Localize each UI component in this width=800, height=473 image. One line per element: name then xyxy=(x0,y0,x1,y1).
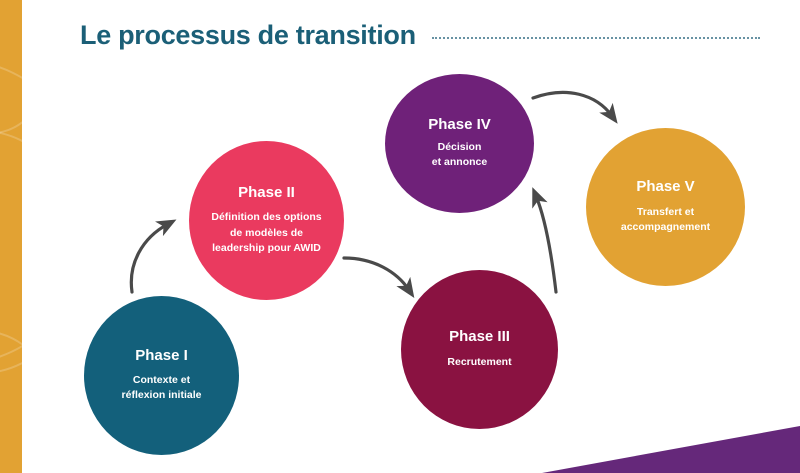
phase-circle-4[interactable]: Phase IV Décision et annonce xyxy=(385,74,534,213)
decorative-swirl xyxy=(0,60,22,364)
phase-2-subtitle: Définition des options de modèles de lea… xyxy=(211,210,321,256)
corner-wedge xyxy=(542,418,800,473)
phase-4-title: Phase IV xyxy=(428,117,491,134)
phase-circle-3[interactable]: Phase III Recrutement xyxy=(401,270,558,429)
arrow-phase3-to-phase4 xyxy=(536,196,556,292)
arrow-phase2-to-phase3 xyxy=(344,258,409,290)
phase-circle-1[interactable]: Phase I Contexte et réflexion initiale xyxy=(84,296,239,455)
phase-3-title: Phase III xyxy=(449,329,510,346)
title-dotted-rule xyxy=(432,37,760,39)
slide-canvas: Le processus de transition Phase I Conte… xyxy=(0,0,800,473)
page-title: Le processus de transition xyxy=(80,20,416,51)
phase-2-title: Phase II xyxy=(238,185,295,202)
phase-5-subtitle: Transfert et accompagnement xyxy=(621,205,710,235)
phase-1-title: Phase I xyxy=(135,348,188,365)
left-accent-bar xyxy=(0,0,22,473)
arrow-phase1-to-phase2 xyxy=(131,224,168,292)
title-row: Le processus de transition xyxy=(80,12,760,58)
phase-circle-5[interactable]: Phase V Transfert et accompagnement xyxy=(586,128,745,286)
phase-circle-2[interactable]: Phase II Définition des options de modèl… xyxy=(189,141,344,300)
arrow-phase4-to-phase5 xyxy=(533,92,612,116)
phase-5-title: Phase V xyxy=(636,179,694,196)
phase-4-subtitle: Décision et annonce xyxy=(432,140,487,170)
phase-1-subtitle: Contexte et réflexion initiale xyxy=(122,373,202,403)
phase-3-subtitle: Recrutement xyxy=(447,355,511,370)
